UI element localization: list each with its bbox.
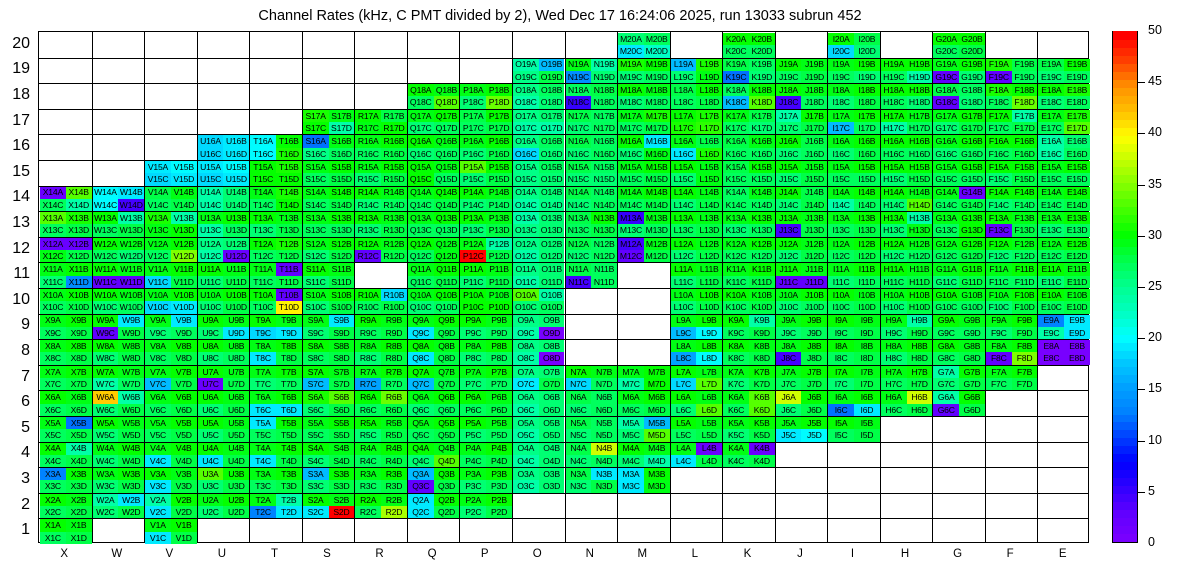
module-g19[interactable]: G19AG19BG19CG19D: [933, 59, 985, 84]
channel-x12c[interactable]: X12C: [40, 250, 66, 262]
channel-g12a[interactable]: G12A: [933, 238, 959, 250]
channel-k7c[interactable]: K7C: [723, 378, 749, 390]
channel-g10d[interactable]: G10D: [959, 301, 985, 313]
channel-h8d[interactable]: H8D: [907, 352, 933, 364]
channel-v4d[interactable]: V4D: [171, 455, 197, 467]
channel-s15b[interactable]: S15B: [329, 161, 355, 173]
module-t15[interactable]: T15AT15BT15CT15D: [250, 161, 302, 186]
channel-w11a[interactable]: W11A: [93, 263, 119, 275]
channel-v13b[interactable]: V13B: [171, 212, 197, 224]
channel-p9a[interactable]: P9A: [460, 315, 486, 327]
channel-f16a[interactable]: F16A: [986, 135, 1012, 147]
channel-f16b[interactable]: F16B: [1012, 135, 1038, 147]
channel-r6a[interactable]: R6A: [355, 391, 381, 403]
channel-p4a[interactable]: P4A: [460, 443, 486, 455]
channel-i16a[interactable]: I16A: [828, 135, 854, 147]
channel-l17d[interactable]: L17D: [696, 122, 722, 134]
channel-o14b[interactable]: O14B: [539, 187, 565, 199]
channel-m12b[interactable]: M12B: [644, 238, 670, 250]
channel-k14b[interactable]: K14B: [749, 187, 775, 199]
module-r17[interactable]: R17AR17BR17CR17D: [355, 110, 407, 135]
channel-q13c[interactable]: Q13C: [408, 224, 434, 236]
channel-x10b[interactable]: X10B: [66, 289, 92, 301]
module-w2[interactable]: W2AW2BW2CW2D: [93, 494, 145, 519]
channel-l7b[interactable]: L7B: [696, 366, 722, 378]
channel-p16a[interactable]: P16A: [460, 135, 486, 147]
channel-e13a[interactable]: E13A: [1038, 212, 1064, 224]
channel-q14d[interactable]: Q14D: [434, 199, 460, 211]
channel-m12d[interactable]: M12D: [644, 250, 670, 262]
channel-l8b[interactable]: L8B: [696, 340, 722, 352]
channel-s7c[interactable]: S7C: [303, 378, 329, 390]
channel-x4d[interactable]: X4D: [66, 455, 92, 467]
channel-w4a[interactable]: W4A: [93, 443, 119, 455]
channel-f9d[interactable]: F9D: [1012, 327, 1038, 339]
channel-f18a[interactable]: F18A: [986, 84, 1012, 96]
channel-s5c[interactable]: S5C: [303, 429, 329, 441]
channel-e9a[interactable]: E9A: [1038, 315, 1064, 327]
channel-o15b[interactable]: O15B: [539, 161, 565, 173]
channel-v9d[interactable]: V9D: [171, 327, 197, 339]
module-e16[interactable]: E16AE16BE16CE16D: [1038, 135, 1090, 160]
channel-k9d[interactable]: K9D: [749, 327, 775, 339]
channel-q5c[interactable]: Q5C: [408, 429, 434, 441]
channel-m7d[interactable]: M7D: [644, 378, 670, 390]
module-j11[interactable]: J11AJ11BJ11CJ11D: [776, 263, 828, 288]
channel-r8b[interactable]: R8B: [381, 340, 407, 352]
module-v6[interactable]: V6AV6BV6CV6D: [145, 391, 197, 416]
channel-j8d[interactable]: J8D: [801, 352, 827, 364]
channel-l12c[interactable]: L12C: [671, 250, 697, 262]
channel-s17c[interactable]: S17C: [303, 122, 329, 134]
channel-p9c[interactable]: P9C: [460, 327, 486, 339]
channel-t15a[interactable]: T15A: [250, 161, 276, 173]
channel-x14c[interactable]: X14C: [40, 199, 66, 211]
channel-x10d[interactable]: X10D: [66, 301, 92, 313]
channel-v2c[interactable]: V2C: [145, 506, 171, 518]
channel-t16d[interactable]: T16D: [276, 148, 302, 160]
channel-l7c[interactable]: L7C: [671, 378, 697, 390]
channel-t4d[interactable]: T4D: [276, 455, 302, 467]
channel-r14a[interactable]: R14A: [355, 187, 381, 199]
channel-f16d[interactable]: F16D: [1012, 148, 1038, 160]
channel-x14a[interactable]: X14A: [40, 187, 66, 199]
module-k14[interactable]: K14AK14BK14CK14D: [723, 187, 775, 212]
module-n16[interactable]: N16AN16BN16CN16D: [566, 135, 618, 160]
channel-s16b[interactable]: S16B: [329, 135, 355, 147]
channel-n6c[interactable]: N6C: [566, 404, 592, 416]
channel-q2c[interactable]: Q2C: [408, 506, 434, 518]
channel-g13b[interactable]: G13B: [959, 212, 985, 224]
channel-j9a[interactable]: J9A: [776, 315, 802, 327]
channel-m19c[interactable]: M19C: [618, 71, 644, 83]
channel-r12d[interactable]: R12D: [381, 250, 407, 262]
channel-k8d[interactable]: K8D: [749, 352, 775, 364]
channel-m17c[interactable]: M17C: [618, 122, 644, 134]
channel-t2d[interactable]: T2D: [276, 506, 302, 518]
channel-s4d[interactable]: S4D: [329, 455, 355, 467]
channel-n12c[interactable]: N12C: [566, 250, 592, 262]
module-o9[interactable]: O9AO9BO9CO9D: [513, 315, 565, 340]
channel-h10b[interactable]: H10B: [907, 289, 933, 301]
channel-j14d[interactable]: J14D: [801, 199, 827, 211]
channel-h11d[interactable]: H11D: [907, 276, 933, 288]
channel-o18d[interactable]: O18D: [539, 96, 565, 108]
channel-s15d[interactable]: S15D: [329, 173, 355, 185]
channel-q5d[interactable]: Q5D: [434, 429, 460, 441]
channel-m18a[interactable]: M18A: [618, 84, 644, 96]
channel-n15a[interactable]: N15A: [566, 161, 592, 173]
channel-u14b[interactable]: U14B: [223, 187, 249, 199]
module-h11[interactable]: H11AH11BH11CH11D: [881, 263, 933, 288]
channel-u4d[interactable]: U4D: [223, 455, 249, 467]
channel-j13a[interactable]: J13A: [776, 212, 802, 224]
channel-n17c[interactable]: N17C: [566, 122, 592, 134]
channel-q4c[interactable]: Q4C: [408, 455, 434, 467]
channel-r4b[interactable]: R4B: [381, 443, 407, 455]
module-m20[interactable]: M20AM20BM20CM20D: [618, 33, 670, 58]
channel-k9b[interactable]: K9B: [749, 315, 775, 327]
module-t4[interactable]: T4AT4BT4CT4D: [250, 443, 302, 468]
channel-h17b[interactable]: H17B: [907, 110, 933, 122]
module-p10[interactable]: P10AP10BP10CP10D: [460, 289, 512, 314]
channel-t6c[interactable]: T6C: [250, 404, 276, 416]
channel-r16a[interactable]: R16A: [355, 135, 381, 147]
channel-r14c[interactable]: R14C: [355, 199, 381, 211]
module-k16[interactable]: K16AK16BK16CK16D: [723, 135, 775, 160]
channel-j16c[interactable]: J16C: [776, 148, 802, 160]
channel-w5d[interactable]: W5D: [118, 429, 144, 441]
module-i14[interactable]: I14AI14BI14CI14D: [828, 187, 880, 212]
channel-w11c[interactable]: W11C: [93, 276, 119, 288]
channel-h9a[interactable]: H9A: [881, 315, 907, 327]
channel-f17b[interactable]: F17B: [1012, 110, 1038, 122]
module-h17[interactable]: H17AH17BH17CH17D: [881, 110, 933, 135]
module-s2[interactable]: S2AS2BS2CS2D: [303, 494, 355, 519]
channel-u8c[interactable]: U8C: [198, 352, 224, 364]
module-k9[interactable]: K9AK9BK9CK9D: [723, 315, 775, 340]
channel-k19a[interactable]: K19A: [723, 59, 749, 71]
channel-k10d[interactable]: K10D: [749, 301, 775, 313]
channel-q3a[interactable]: Q3A: [408, 468, 434, 480]
channel-o8a[interactable]: O8A: [513, 340, 539, 352]
channel-j8b[interactable]: J8B: [801, 340, 827, 352]
module-m14[interactable]: M14AM14BM14CM14D: [618, 187, 670, 212]
channel-r5c[interactable]: R5C: [355, 429, 381, 441]
module-i9[interactable]: I9AI9BI9CI9D: [828, 315, 880, 340]
module-g11[interactable]: G11AG11BG11CG11D: [933, 263, 985, 288]
channel-w10a[interactable]: W10A: [93, 289, 119, 301]
module-s6[interactable]: S6AS6BS6CS6D: [303, 391, 355, 416]
channel-v11c[interactable]: V11C: [145, 276, 171, 288]
channel-x1d[interactable]: X1D: [66, 532, 92, 544]
channel-r10d[interactable]: R10D: [381, 301, 407, 313]
channel-q6b[interactable]: Q6B: [434, 391, 460, 403]
channel-v10c[interactable]: V10C: [145, 301, 171, 313]
channel-x5a[interactable]: X5A: [40, 417, 66, 429]
channel-o6b[interactable]: O6B: [539, 391, 565, 403]
channel-j11b[interactable]: J11B: [801, 263, 827, 275]
channel-j12a[interactable]: J12A: [776, 238, 802, 250]
channel-s15c[interactable]: S15C: [303, 173, 329, 185]
module-h18[interactable]: H18AH18BH18CH18D: [881, 84, 933, 109]
channel-k4b[interactable]: K4B: [749, 443, 775, 455]
channel-i16d[interactable]: I16D: [854, 148, 880, 160]
channel-e16d[interactable]: E16D: [1064, 148, 1090, 160]
channel-q2a[interactable]: Q2A: [408, 494, 434, 506]
channel-j9d[interactable]: J9D: [801, 327, 827, 339]
module-i13[interactable]: I13AI13BI13CI13D: [828, 212, 880, 237]
channel-e14d[interactable]: E14D: [1064, 199, 1090, 211]
module-m13[interactable]: M13AM13BM13CM13D: [618, 212, 670, 237]
channel-i17d[interactable]: I17D: [854, 122, 880, 134]
channel-o4b[interactable]: O4B: [539, 443, 565, 455]
channel-p4c[interactable]: P4C: [460, 455, 486, 467]
module-f11[interactable]: F11AF11BF11CF11D: [986, 263, 1038, 288]
channel-f19b[interactable]: F19B: [1012, 59, 1038, 71]
channel-v14c[interactable]: V14C: [145, 199, 171, 211]
module-h16[interactable]: H16AH16BH16CH16D: [881, 135, 933, 160]
channel-e9d[interactable]: E9D: [1064, 327, 1090, 339]
channel-l18d[interactable]: L18D: [696, 96, 722, 108]
channel-g17b[interactable]: G17B: [959, 110, 985, 122]
channel-j13c[interactable]: J13C: [776, 224, 802, 236]
channel-j8c[interactable]: J8C: [776, 352, 802, 364]
channel-g13a[interactable]: G13A: [933, 212, 959, 224]
channel-q7a[interactable]: Q7A: [408, 366, 434, 378]
channel-p3c[interactable]: P3C: [460, 480, 486, 492]
channel-n18c[interactable]: N18C: [566, 96, 592, 108]
channel-q15d[interactable]: Q15D: [434, 173, 460, 185]
channel-i18c[interactable]: I18C: [828, 96, 854, 108]
channel-o9a[interactable]: O9A: [513, 315, 539, 327]
channel-w12a[interactable]: W12A: [93, 238, 119, 250]
channel-k19b[interactable]: K19B: [749, 59, 775, 71]
channel-f7c[interactable]: F7C: [986, 378, 1012, 390]
channel-s7a[interactable]: S7A: [303, 366, 329, 378]
channel-i9d[interactable]: I9D: [854, 327, 880, 339]
channel-x1b[interactable]: X1B: [66, 519, 92, 531]
channel-e12a[interactable]: E12A: [1038, 238, 1064, 250]
channel-l9a[interactable]: L9A: [671, 315, 697, 327]
channel-t2a[interactable]: T2A: [250, 494, 276, 506]
channel-e14c[interactable]: E14C: [1038, 199, 1064, 211]
module-t8[interactable]: T8AT8BT8CT8D: [250, 340, 302, 365]
channel-t10c[interactable]: T10C: [250, 301, 276, 313]
channel-s2d[interactable]: S2D: [329, 506, 355, 518]
channel-m17b[interactable]: M17B: [644, 110, 670, 122]
module-j14[interactable]: J14AJ14BJ14CJ14D: [776, 187, 828, 212]
channel-s7b[interactable]: S7B: [329, 366, 355, 378]
module-i12[interactable]: I12AI12BI12CI12D: [828, 238, 880, 263]
channel-l13a[interactable]: L13A: [671, 212, 697, 224]
channel-m13c[interactable]: M13C: [618, 224, 644, 236]
channel-o18b[interactable]: O18B: [539, 84, 565, 96]
channel-x6c[interactable]: X6C: [40, 404, 66, 416]
channel-t14b[interactable]: T14B: [276, 187, 302, 199]
channel-t11b[interactable]: T11B: [276, 263, 302, 275]
module-f8[interactable]: F8AF8BF8CF8D: [986, 340, 1038, 365]
channel-t11c[interactable]: T11C: [250, 276, 276, 288]
channel-g10a[interactable]: G10A: [933, 289, 959, 301]
module-n12[interactable]: N12AN12BN12CN12D: [566, 238, 618, 263]
channel-n6a[interactable]: N6A: [566, 391, 592, 403]
channel-w6c[interactable]: W6C: [93, 404, 119, 416]
channel-o8d[interactable]: O8D: [539, 352, 565, 364]
channel-w10b[interactable]: W10B: [118, 289, 144, 301]
channel-j15d[interactable]: J15D: [801, 173, 827, 185]
channel-r16d[interactable]: R16D: [381, 148, 407, 160]
channel-q11c[interactable]: Q11C: [408, 276, 434, 288]
channel-s14c[interactable]: S14C: [303, 199, 329, 211]
module-k13[interactable]: K13AK13BK13CK13D: [723, 212, 775, 237]
channel-p16c[interactable]: P16C: [460, 148, 486, 160]
channel-x8c[interactable]: X8C: [40, 352, 66, 364]
channel-k7b[interactable]: K7B: [749, 366, 775, 378]
channel-s8c[interactable]: S8C: [303, 352, 329, 364]
channel-h11a[interactable]: H11A: [881, 263, 907, 275]
channel-k10a[interactable]: K10A: [723, 289, 749, 301]
channel-x11d[interactable]: X11D: [66, 276, 92, 288]
module-u7[interactable]: U7AU7BU7CU7D: [198, 366, 250, 391]
channel-n4d[interactable]: N4D: [591, 455, 617, 467]
channel-u9a[interactable]: U9A: [198, 315, 224, 327]
channel-e17b[interactable]: E17B: [1064, 110, 1090, 122]
module-l9[interactable]: L9AL9BL9CL9D: [671, 315, 723, 340]
channel-k20d[interactable]: K20D: [749, 45, 775, 57]
channel-l7a[interactable]: L7A: [671, 366, 697, 378]
channel-g15c[interactable]: G15C: [933, 173, 959, 185]
channel-n13c[interactable]: N13C: [566, 224, 592, 236]
channel-u15c[interactable]: U15C: [198, 173, 224, 185]
channel-p18a[interactable]: P18A: [460, 84, 486, 96]
channel-u7b[interactable]: U7B: [223, 366, 249, 378]
channel-h15d[interactable]: H15D: [907, 173, 933, 185]
channel-l9c[interactable]: L9C: [671, 327, 697, 339]
channel-x8b[interactable]: X8B: [66, 340, 92, 352]
channel-o8c[interactable]: O8C: [513, 352, 539, 364]
channel-p17c[interactable]: P17C: [460, 122, 486, 134]
module-q5[interactable]: Q5AQ5BQ5CQ5D: [408, 417, 460, 442]
channel-k5b[interactable]: K5B: [749, 417, 775, 429]
channel-k12b[interactable]: K12B: [749, 238, 775, 250]
module-f15[interactable]: F15AF15BF15CF15D: [986, 161, 1038, 186]
channel-r8c[interactable]: R8C: [355, 352, 381, 364]
channel-v5c[interactable]: V5C: [145, 429, 171, 441]
channel-u5d[interactable]: U5D: [223, 429, 249, 441]
channel-w8d[interactable]: W8D: [118, 352, 144, 364]
channel-l19b[interactable]: L19B: [696, 59, 722, 71]
channel-r15b[interactable]: R15B: [381, 161, 407, 173]
channel-j8a[interactable]: J8A: [776, 340, 802, 352]
channel-w6a[interactable]: W6A: [93, 391, 119, 403]
channel-f18b[interactable]: F18B: [1012, 84, 1038, 96]
channel-t9b[interactable]: T9B: [276, 315, 302, 327]
channel-n15c[interactable]: N15C: [566, 173, 592, 185]
channel-w2a[interactable]: W2A: [93, 494, 119, 506]
channel-i18d[interactable]: I18D: [854, 96, 880, 108]
channel-m18b[interactable]: M18B: [644, 84, 670, 96]
module-h13[interactable]: H13AH13BH13CH13D: [881, 212, 933, 237]
channel-g20c[interactable]: G20C: [933, 45, 959, 57]
channel-m19a[interactable]: M19A: [618, 59, 644, 71]
channel-x14d[interactable]: X14D: [66, 199, 92, 211]
channel-g13d[interactable]: G13D: [959, 224, 985, 236]
channel-r17b[interactable]: R17B: [381, 110, 407, 122]
channel-t6b[interactable]: T6B: [276, 391, 302, 403]
channel-o11d[interactable]: O11D: [539, 276, 565, 288]
channel-s11d[interactable]: S11D: [329, 276, 355, 288]
channel-l16c[interactable]: L16C: [671, 148, 697, 160]
channel-g14a[interactable]: G14A: [933, 187, 959, 199]
module-r3[interactable]: R3AR3BR3CR3D: [355, 468, 407, 493]
channel-w12b[interactable]: W12B: [118, 238, 144, 250]
channel-t3b[interactable]: T3B: [276, 468, 302, 480]
channel-x1c[interactable]: X1C: [40, 532, 66, 544]
channel-v13a[interactable]: V13A: [145, 212, 171, 224]
channel-u6d[interactable]: U6D: [223, 404, 249, 416]
channel-p6c[interactable]: P6C: [460, 404, 486, 416]
channel-g6d[interactable]: G6D: [959, 404, 985, 416]
module-e13[interactable]: E13AE13BE13CE13D: [1038, 212, 1090, 237]
module-v11[interactable]: V11AV11BV11CV11D: [145, 263, 197, 288]
channel-h7b[interactable]: H7B: [907, 366, 933, 378]
channel-k16b[interactable]: K16B: [749, 135, 775, 147]
channel-i12c[interactable]: I12C: [828, 250, 854, 262]
channel-o18c[interactable]: O18C: [513, 96, 539, 108]
module-f18[interactable]: F18AF18BF18CF18D: [986, 84, 1038, 109]
channel-g19d[interactable]: G19D: [959, 71, 985, 83]
module-f9[interactable]: F9AF9BF9CF9D: [986, 315, 1038, 340]
channel-e14a[interactable]: E14A: [1038, 187, 1064, 199]
channel-h9d[interactable]: H9D: [907, 327, 933, 339]
module-h10[interactable]: H10AH10BH10CH10D: [881, 289, 933, 314]
channel-k20a[interactable]: K20A: [723, 33, 749, 45]
channel-n16c[interactable]: N16C: [566, 148, 592, 160]
channel-k13a[interactable]: K13A: [723, 212, 749, 224]
channel-s3c[interactable]: S3C: [303, 480, 329, 492]
channel-l6b[interactable]: L6B: [696, 391, 722, 403]
module-u5[interactable]: U5AU5BU5CU5D: [198, 417, 250, 442]
module-v10[interactable]: V10AV10BV10CV10D: [145, 289, 197, 314]
channel-r14b[interactable]: R14B: [381, 187, 407, 199]
channel-h15a[interactable]: H15A: [881, 161, 907, 173]
module-h12[interactable]: H12AH12BH12CH12D: [881, 238, 933, 263]
module-j6[interactable]: J6AJ6BJ6CJ6D: [776, 391, 828, 416]
channel-g19c[interactable]: G19C: [933, 71, 959, 83]
channel-j17d[interactable]: J17D: [801, 122, 827, 134]
channel-w12c[interactable]: W12C: [93, 250, 119, 262]
channel-i15a[interactable]: I15A: [828, 161, 854, 173]
module-r5[interactable]: R5AR5BR5CR5D: [355, 417, 407, 442]
module-x12[interactable]: X12AX12BX12CX12D: [40, 238, 92, 263]
channel-f17d[interactable]: F17D: [1012, 122, 1038, 134]
channel-i10a[interactable]: I10A: [828, 289, 854, 301]
channel-s17d[interactable]: S17D: [329, 122, 355, 134]
channel-w11b[interactable]: W11B: [118, 263, 144, 275]
channel-p12c[interactable]: P12C: [460, 250, 486, 262]
channel-i13c[interactable]: I13C: [828, 224, 854, 236]
channel-g9d[interactable]: G9D: [959, 327, 985, 339]
module-p11[interactable]: P11AP11BP11CP11D: [460, 263, 512, 288]
channel-e15b[interactable]: E15B: [1064, 161, 1090, 173]
channel-o6a[interactable]: O6A: [513, 391, 539, 403]
channel-o11c[interactable]: O11C: [513, 276, 539, 288]
channel-x10c[interactable]: X10C: [40, 301, 66, 313]
channel-w14d[interactable]: W14D: [118, 199, 144, 211]
channel-t2b[interactable]: T2B: [276, 494, 302, 506]
channel-h11c[interactable]: H11C: [881, 276, 907, 288]
